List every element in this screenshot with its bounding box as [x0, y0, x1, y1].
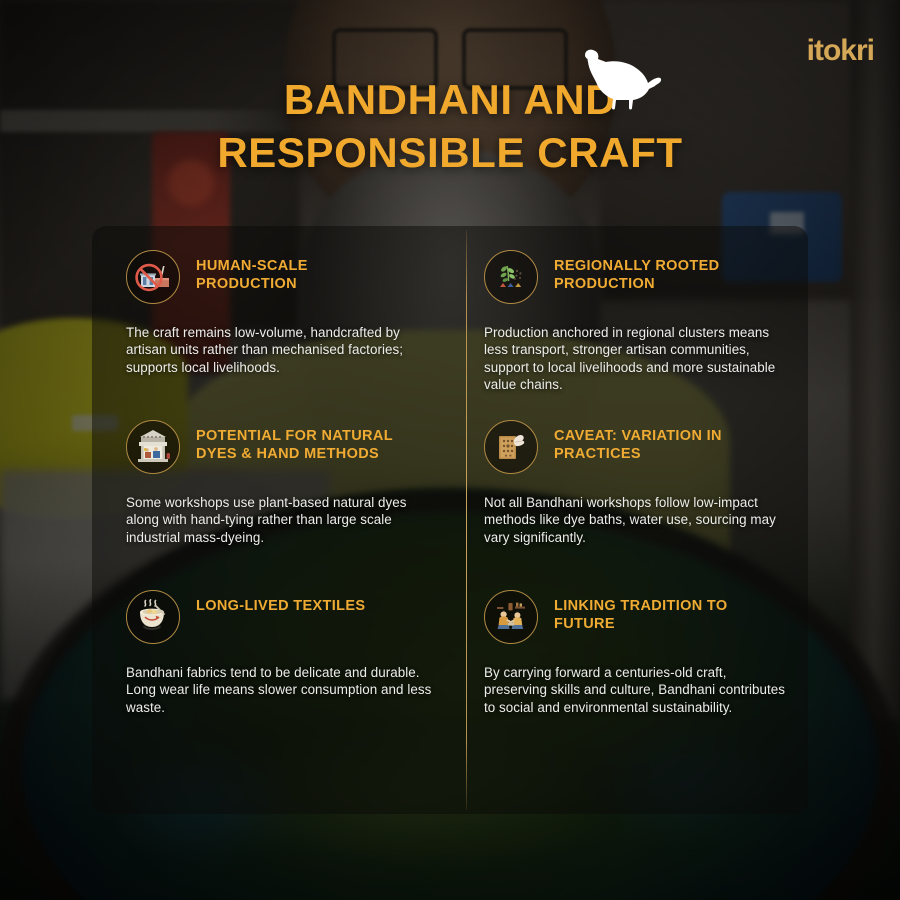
- card-header: LONG-LIVED TEXTILES: [126, 590, 438, 644]
- poster-title: BANDHANI AND RESPONSIBLE CRAFT: [0, 74, 900, 180]
- content-panel: HUMAN-SCALE PRODUCTION The craft remains…: [92, 226, 808, 814]
- card-body: Some workshops use plant-based natural d…: [126, 494, 438, 546]
- card-header: HUMAN-SCALE PRODUCTION: [126, 250, 438, 304]
- card-header: LINKING TRADITION TO FUTURE: [484, 590, 786, 644]
- cards-grid: HUMAN-SCALE PRODUCTION The craft remains…: [92, 226, 808, 814]
- card-header: POTENTIAL FOR NATURAL DYES & HAND METHOD…: [126, 420, 438, 474]
- sprout-dye-powders-icon: [484, 250, 538, 304]
- card-long-lived-textiles: LONG-LIVED TEXTILES Bandhani fabrics ten…: [92, 566, 466, 766]
- workshop-building-icon: [126, 420, 180, 474]
- no-factory-icon: [126, 250, 180, 304]
- card-caveat-variation-in-practices: CAVEAT: VARIATION IN PRACTICES Not all B…: [466, 396, 808, 566]
- card-body: By carrying forward a centuries-old craf…: [484, 664, 786, 716]
- card-title: REGIONALLY ROOTED PRODUCTION: [554, 250, 760, 294]
- card-linking-tradition-to-future: LINKING TRADITION TO FUTURE By carrying …: [466, 566, 808, 766]
- card-title: POTENTIAL FOR NATURAL DYES & HAND METHOD…: [196, 420, 410, 464]
- poster-title-line-1: BANDHANI AND: [0, 74, 900, 127]
- hand-holding-fabric-icon: [484, 420, 538, 474]
- card-header: REGIONALLY ROOTED PRODUCTION: [484, 250, 786, 304]
- card-title: LONG-LIVED TEXTILES: [196, 590, 365, 616]
- poster-title-line-2: RESPONSIBLE CRAFT: [0, 127, 900, 180]
- card-title: LINKING TRADITION TO FUTURE: [554, 590, 760, 634]
- card-regionally-rooted-production: REGIONALLY ROOTED PRODUCTION Production …: [466, 226, 808, 396]
- card-body: The craft remains low-volume, handcrafte…: [126, 324, 438, 376]
- two-artisans-icon: [484, 590, 538, 644]
- card-body: Bandhani fabrics tend to be delicate and…: [126, 664, 438, 716]
- card-natural-dyes-hand-methods: POTENTIAL FOR NATURAL DYES & HAND METHOD…: [92, 396, 466, 566]
- card-body: Not all Bandhani workshops follow low-im…: [484, 494, 786, 546]
- itokri-logo[interactable]: itokri: [807, 36, 874, 66]
- card-header: CAVEAT: VARIATION IN PRACTICES: [484, 420, 786, 474]
- card-title: HUMAN-SCALE PRODUCTION: [196, 250, 410, 294]
- card-body: Production anchored in regional clusters…: [484, 324, 786, 394]
- card-title: CAVEAT: VARIATION IN PRACTICES: [554, 420, 760, 464]
- card-human-scale-production: HUMAN-SCALE PRODUCTION The craft remains…: [92, 226, 466, 396]
- dye-pot-icon: [126, 590, 180, 644]
- infographic-poster: itokri BANDHANI AND RESPONSIBLE CRAFT: [0, 0, 900, 900]
